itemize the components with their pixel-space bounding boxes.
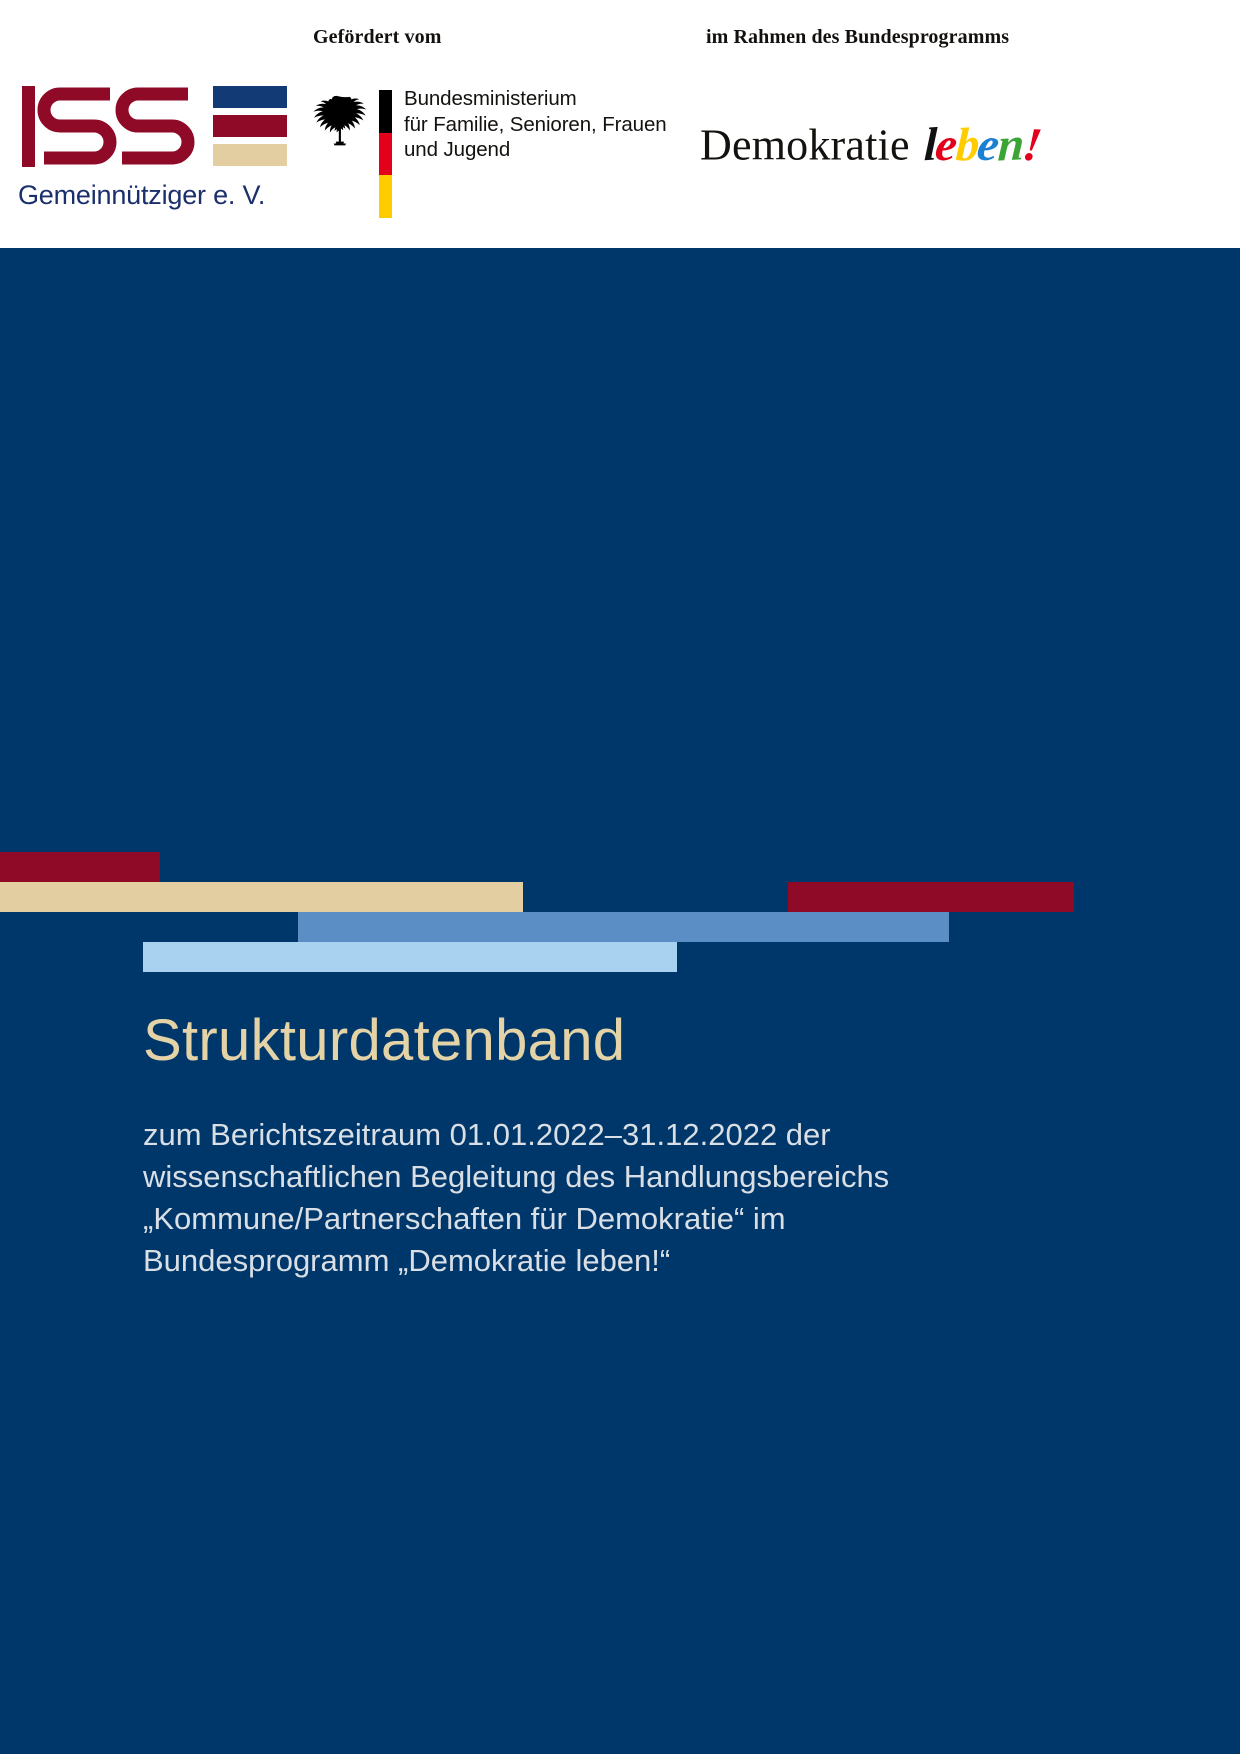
ministry-name-line3: und Jugend (404, 137, 667, 163)
iss-block-red (213, 115, 287, 137)
iss-color-blocks (213, 86, 288, 168)
iss-wordmark-icon (18, 84, 218, 169)
cover-body: Strukturdatenband zum Berichtszeitraum 0… (0, 248, 1240, 1754)
page-title: Strukturdatenband (143, 1007, 625, 1074)
iss-logo: Gemeinnütziger e. V. (18, 84, 278, 224)
german-flag-bar-icon (379, 90, 392, 218)
iss-block-tan (213, 144, 287, 166)
demokratie-leben-logo: Demokratieleben! (700, 118, 1040, 178)
demokratie-leben-word: Demokratie (700, 121, 910, 170)
programme-framework-label: im Rahmen des Bundesprogramms (706, 26, 1009, 49)
federal-eagle-icon (305, 90, 367, 152)
iss-block-navy (213, 86, 287, 108)
decor-bar-medium-blue (298, 912, 949, 942)
iss-subline: Gemeinnütziger e. V. (18, 180, 265, 211)
decor-bar-light-blue (143, 942, 677, 972)
cover-page: Gefördert vom im Rahmen des Bundesprogra… (0, 0, 1240, 1754)
subtitle-line-2: wissenschaftlichen Begleitung des Handlu… (143, 1156, 983, 1198)
decorative-bars (0, 248, 1240, 1754)
page-subtitle: zum Berichtszeitraum 01.01.2022–31.12.20… (143, 1114, 983, 1282)
subtitle-line-4: Bundesprogramm „Demokratie leben!“ (143, 1240, 983, 1282)
logo-header-band: Gefördert vom im Rahmen des Bundesprogra… (0, 0, 1240, 248)
demokratie-leben-handwritten: leben! (921, 118, 1043, 172)
decor-bar-dark-red-right (788, 882, 1074, 912)
funded-by-label: Gefördert vom (313, 26, 441, 49)
decor-bar-tan (0, 882, 523, 912)
subtitle-line-3: „Kommune/Partnerschaften für Demokratie“… (143, 1198, 983, 1240)
ministry-logo: Bundesministerium für Familie, Senioren,… (305, 86, 700, 221)
ministry-name-line1: Bundesministerium (404, 86, 667, 112)
subtitle-line-1: zum Berichtszeitraum 01.01.2022–31.12.20… (143, 1114, 983, 1156)
ministry-name: Bundesministerium für Familie, Senioren,… (404, 86, 667, 163)
ministry-name-line2: für Familie, Senioren, Frauen (404, 112, 667, 138)
decor-bar-dark-red-left (0, 852, 160, 882)
